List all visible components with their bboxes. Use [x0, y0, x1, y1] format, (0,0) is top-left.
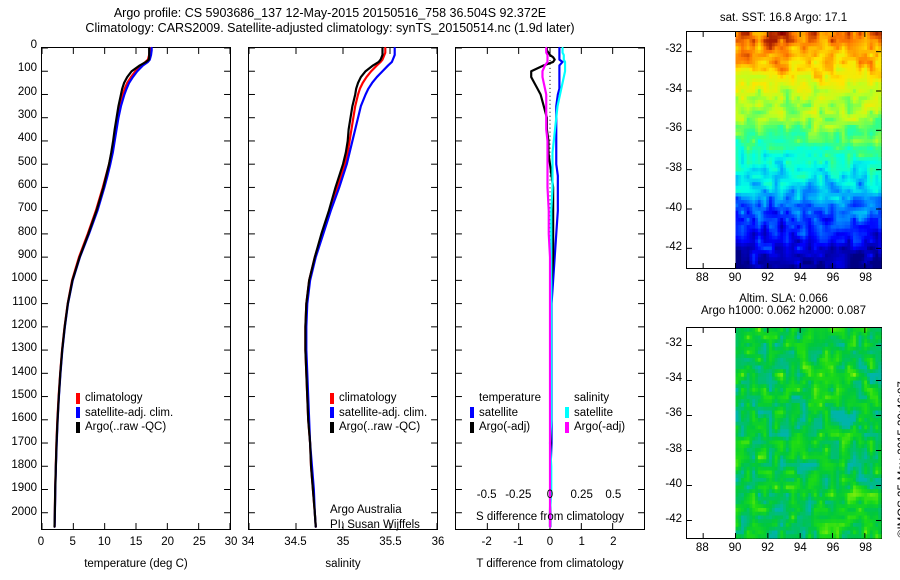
legend-item: satellite [470, 406, 541, 421]
axis-tick-label: 36 [432, 536, 445, 548]
axis-tick-label: 92 [761, 272, 774, 284]
axis-tick-label: 300 [18, 109, 37, 121]
legend-color-swatch [76, 407, 80, 418]
legend-color-swatch [470, 407, 474, 418]
axis-tick-label: 90 [729, 272, 742, 284]
axis-tick-label: 0.25 [570, 489, 592, 501]
axis-tick-label: 10 [98, 536, 111, 548]
axis-tick-label: 700 [18, 202, 37, 214]
axis-tick-label: 0 [547, 489, 553, 501]
legend-color-swatch [330, 422, 334, 433]
axis-tick-label: 0 [38, 536, 44, 548]
difference-profile-panel[interactable] [455, 47, 645, 530]
legend-item: climatology [76, 391, 173, 406]
axis-tick-label: 1900 [11, 482, 37, 494]
axis-tick-label: 90 [729, 542, 742, 554]
sla-map-title: Altim. SLA: 0.066 Argo h1000: 0.062 h200… [676, 293, 891, 317]
legend-color-swatch [76, 422, 80, 433]
legend-label: satellite-adj. clim. [85, 406, 173, 421]
salinity-profile-panel[interactable] [248, 47, 438, 530]
axis-tick-label: -32 [665, 337, 682, 349]
axis-tick-label: 2 [610, 536, 616, 548]
sst-map-image [687, 32, 881, 268]
axis-tick-label: 35 [337, 536, 350, 548]
legend-group-title: salinity [565, 391, 625, 406]
axis-tick-label: 98 [859, 542, 872, 554]
figure-title: Argo profile: CS 5903686_137 12-May-2015… [0, 6, 660, 36]
legend-item: Argo(..raw -QC) [330, 420, 427, 435]
axis-tick-label: -38 [665, 443, 682, 455]
axis-tick-label: 100 [18, 62, 37, 74]
temperature-plot-area [42, 48, 230, 529]
axis-tick-label: 5 [69, 536, 75, 548]
legend-color-swatch [470, 422, 474, 433]
axis-tick-label: 96 [827, 272, 840, 284]
axis-tick-label: -42 [665, 241, 682, 253]
axis-tick-label: 900 [18, 249, 37, 261]
axis-tick-label: 2000 [11, 506, 37, 518]
axis-tick-label: -38 [665, 162, 682, 174]
argo-australia-note: Argo Australia PI: Susan Wijffels [330, 503, 420, 532]
title-line-1: Argo profile: CS 5903686_137 12-May-2015… [0, 6, 660, 21]
axis-tick-label: 88 [696, 542, 709, 554]
legend-label: climatology [339, 391, 397, 406]
axis-tick-label: 92 [761, 542, 774, 554]
legend-item: climatology [330, 391, 427, 406]
axis-tick-label: -0.25 [505, 489, 531, 501]
legend-item: satellite [565, 406, 625, 421]
legend-color-swatch [330, 407, 334, 418]
altim-sla-label: Altim. SLA: 0.066 [676, 293, 891, 305]
legend-color-swatch [330, 393, 334, 404]
axis-tick-label: 600 [18, 179, 37, 191]
axis-tick-label: -36 [665, 407, 682, 419]
axis-tick-label: 34 [242, 536, 255, 548]
axis-tick-label: 1000 [11, 272, 37, 284]
axis-tick-label: 800 [18, 226, 37, 238]
axis-tick-label: 25 [193, 536, 206, 548]
legend-color-swatch [565, 407, 569, 418]
axis-tick-label: 1300 [11, 342, 37, 354]
axis-tick-label: -40 [665, 202, 682, 214]
axis-tick-label: 400 [18, 132, 37, 144]
axis-tick-label: 1 [578, 536, 584, 548]
argo-heights-label: Argo h1000: 0.062 h2000: 0.087 [676, 305, 891, 317]
axis-tick-label: 0.5 [605, 489, 621, 501]
axis-tick-label: 1800 [11, 459, 37, 471]
legend-group-title: temperature [470, 391, 541, 406]
axis-tick-label: 1500 [11, 389, 37, 401]
axis-tick-label: 1600 [11, 412, 37, 424]
axis-tick-label: 15 [130, 536, 143, 548]
legend-label: Argo(..raw -QC) [85, 420, 166, 435]
salinity-difference-axis-title: S difference from climatology [455, 511, 645, 523]
axis-tick-label: -0.5 [477, 489, 497, 501]
axis-tick-label: 1200 [11, 319, 37, 331]
axis-tick-label: -1 [513, 536, 523, 548]
legend-color-swatch [76, 393, 80, 404]
axis-tick-label: 1700 [11, 436, 37, 448]
title-line-2: Climatology: CARS2009. Satellite-adjuste… [0, 21, 660, 36]
axis-tick-label: 200 [18, 86, 37, 98]
salinity-axis-title: salinity [248, 558, 438, 570]
legend-label: climatology [85, 391, 143, 406]
axis-tick-label: 20 [161, 536, 174, 548]
difference-legend-salinity: salinitysatelliteArgo(-adj) [565, 391, 625, 435]
legend-label: Argo(..raw -QC) [339, 420, 420, 435]
temperature-profile-panel[interactable] [41, 47, 231, 530]
difference-plot-area [456, 48, 644, 529]
legend-color-swatch [565, 422, 569, 433]
axis-tick-label: 34.5 [284, 536, 306, 548]
axis-tick-label: 88 [696, 272, 709, 284]
legend-item: satellite-adj. clim. [330, 406, 427, 421]
salinity-plot-area [249, 48, 437, 529]
axis-tick-label: 94 [794, 272, 807, 284]
axis-tick-label: 0 [31, 39, 37, 51]
sla-map-panel[interactable] [686, 327, 882, 539]
argo-australia-label: Argo Australia [330, 503, 420, 518]
legend-item: satellite-adj. clim. [76, 406, 173, 421]
temperature-legend: climatologysatellite-adj. clim.Argo(..ra… [76, 391, 173, 435]
axis-tick-label: 1100 [12, 296, 37, 308]
legend-item: Argo(-adj) [565, 420, 625, 435]
axis-tick-label: 30 [225, 536, 238, 548]
legend-item: Argo(-adj) [470, 420, 541, 435]
sst-map-panel[interactable] [686, 31, 882, 269]
axis-tick-label: 96 [827, 542, 840, 554]
axis-tick-label: -42 [665, 513, 682, 525]
axis-tick-label: 35.5 [379, 536, 401, 548]
legend-label: Argo(-adj) [574, 420, 625, 435]
sst-map-title: sat. SST: 16.8 Argo: 17.1 [676, 12, 891, 24]
axis-tick-label: -32 [665, 43, 682, 55]
difference-legend-temperature: temperaturesatelliteArgo(-adj) [470, 391, 541, 435]
sla-map-image [687, 328, 881, 538]
axis-tick-label: 98 [859, 272, 872, 284]
argo-pi-label: PI: Susan Wijffels [330, 518, 420, 533]
axis-tick-label: -34 [665, 372, 682, 384]
axis-tick-label: -2 [482, 536, 492, 548]
axis-tick-label: 94 [794, 542, 807, 554]
axis-tick-label: 0 [547, 536, 553, 548]
axis-tick-label: -40 [665, 478, 682, 490]
legend-label: satellite [479, 406, 518, 421]
axis-tick-label: 500 [18, 156, 37, 168]
axis-tick-label: -34 [665, 83, 682, 95]
axis-tick-label: 1400 [11, 366, 37, 378]
salinity-legend: climatologysatellite-adj. clim.Argo(..ra… [330, 391, 427, 435]
temperature-axis-title: temperature (deg C) [41, 558, 231, 570]
legend-label: satellite [574, 406, 613, 421]
legend-label: Argo(-adj) [479, 420, 530, 435]
temperature-difference-axis-title: T difference from climatology [455, 558, 645, 570]
legend-label: satellite-adj. clim. [339, 406, 427, 421]
axis-tick-label: -36 [665, 122, 682, 134]
legend-item: Argo(..raw -QC) [76, 420, 173, 435]
